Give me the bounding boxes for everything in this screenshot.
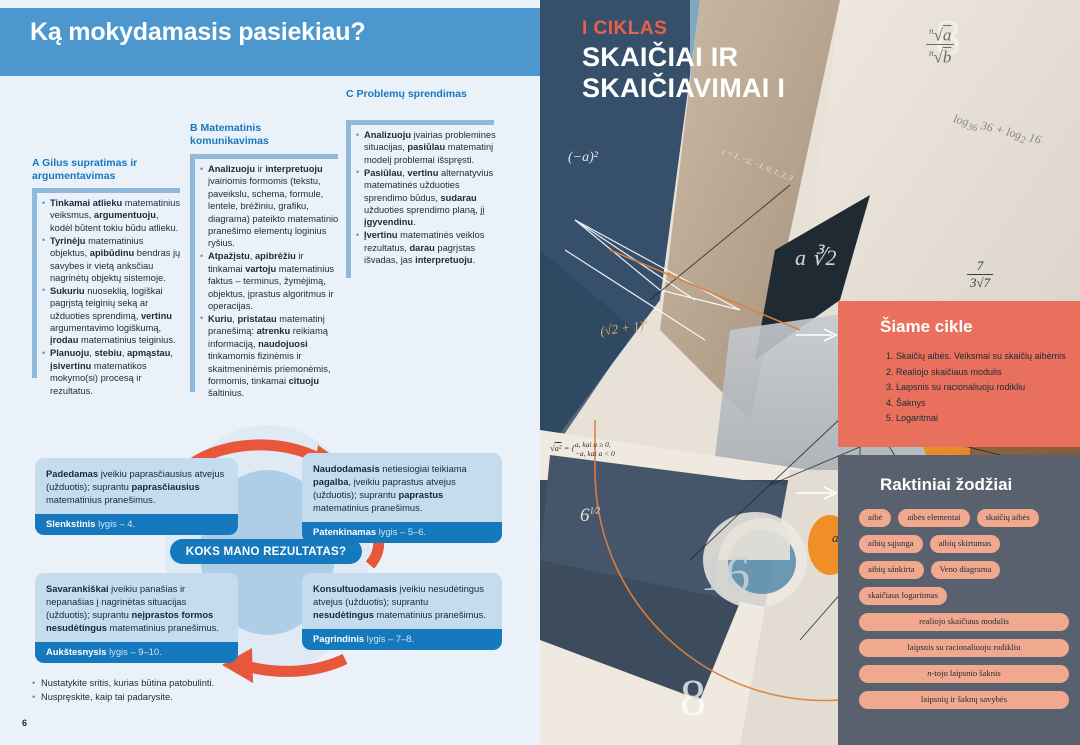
list-item: Analizuoju įvairias problemines situacij… [356, 129, 498, 166]
cycle-title-line2: SKAIČIAVIMAI I [582, 73, 785, 103]
level-rest: lygis – 4. [98, 518, 135, 529]
cycle-title-line1: SKAIČIAI IR [582, 42, 738, 72]
column-rule-c-left [346, 120, 351, 278]
column-list-c: Analizuoju įvairias problemines situacij… [356, 129, 498, 266]
column-body-c: Analizuoju įvairias problemines situacij… [356, 129, 498, 267]
list-item: Tinkamai atlieku matematinius veiksmus, … [42, 197, 182, 234]
level-rest: lygis – 7–8. [367, 633, 414, 644]
level-rest: lygis – 9–10. [109, 646, 162, 657]
level-card-aukstesnysis: Savarankiškai įveikiu panašias ir nepana… [35, 573, 238, 663]
bottom-notes: Nustatykite sritis, kurias būtina patobu… [32, 676, 332, 704]
list-item: Nuspręskite, kaip tai padarysite. [32, 690, 332, 704]
panel-keywords: Raktiniai žodžiai aibėaibės elementaiska… [838, 455, 1080, 745]
svg-text:8: 8 [935, 10, 961, 67]
level-rest: lygis – 5–6. [379, 526, 426, 537]
column-rule-b-top [190, 154, 338, 159]
cycle-title: SKAIČIAI IR SKAIČIAVIMAI I [582, 42, 785, 104]
keyword-pill[interactable]: laipsnių ir šaknų savybės [859, 691, 1069, 709]
level-card-pagrindinis: Konsultuodamasis įveikiu nesudėtingus at… [302, 573, 502, 650]
level-name: Patenkinamas [313, 526, 376, 537]
list-item: Logaritmai [896, 411, 1073, 427]
list-item: Įvertinu matematinės veiklos rezultatus,… [356, 229, 498, 266]
keyword-pill[interactable]: skaičiaus logaritmas [859, 587, 947, 605]
list-item: Skaičių aibės. Veiksmai su skaičių aibėm… [896, 349, 1073, 365]
right-page: 8 16 8 (−a)² z = 1, −2, −1, 0, 1, 2, 3 a… [540, 0, 1080, 745]
list-item: Analizuoju ir interpretuoju įvairiomis f… [200, 163, 340, 250]
list-item: Tyrinėju matematinius objektus, apibūdin… [42, 235, 182, 285]
level-card-text: Padedamas įveikiu paprasčiausius atvejus… [35, 458, 238, 514]
panel-keywords-title: Raktiniai žodžiai [880, 475, 1012, 495]
level-card-text: Naudodamasis netiesiogiai teikiama pagal… [302, 453, 502, 522]
svg-text:8: 8 [680, 670, 706, 727]
column-list-a: Tinkamai atlieku matematinius veiksmus, … [42, 197, 182, 397]
panel-this-cycle-title: Šiame cikle [880, 317, 973, 337]
column-body-b: Analizuoju ir interpretuoju įvairiomis f… [200, 163, 340, 400]
page-title: Ką mokydamasis pasiekiau? [30, 18, 365, 47]
arrow-right-icon-keywords [796, 486, 840, 500]
list-item: Kuriu, pristatau matematinį pranešimą: a… [200, 313, 340, 400]
level-name: Slenkstinis [46, 518, 96, 529]
assessment-cycle-diagram: Padedamas įveikiu paprasčiausius atvejus… [0, 415, 540, 695]
level-card-level: Pagrindinis lygis – 7–8. [302, 629, 502, 650]
level-card-text: Savarankiškai įveikiu panašias ir nepana… [35, 573, 238, 642]
level-card-level: Slenkstinis lygis – 4. [35, 514, 238, 535]
column-rule-a-left [32, 188, 37, 378]
left-page: Ką mokydamasis pasiekiau? A Gilus suprat… [0, 0, 540, 745]
column-heading-c: C Problemų sprendimas [346, 88, 496, 101]
list-item: Laipsnis su racionaliuoju rodikliu [896, 380, 1073, 396]
column-rule-a-top [32, 188, 180, 193]
arrow-right-icon-cycle [796, 328, 840, 342]
page-number: 6 [22, 718, 27, 728]
cycle-center-badge: KOKS MANO REZULTATAS? [170, 539, 362, 564]
keyword-pill[interactable]: aibių sąjunga [859, 535, 923, 553]
cycle-topic-list: Skaičių aibės. Veiksmai su skaičių aibėm… [883, 349, 1073, 427]
keyword-pill[interactable]: skaičių aibės [977, 509, 1039, 527]
cycle-kicker: I CIKLAS [582, 18, 667, 40]
keyword-pill[interactable]: aibių sánkirta [859, 561, 924, 579]
textbook-spread: Ką mokydamasis pasiekiau? A Gilus suprat… [0, 0, 1080, 745]
keyword-pill[interactable]: aibė [859, 509, 891, 527]
level-card-level: Aukštesnysis lygis – 9–10. [35, 642, 238, 663]
level-card-text: Konsultuodamasis įveikiu nesudėtingus at… [302, 573, 502, 629]
column-heading-a: A Gilus supratimas ir argumentavimas [32, 157, 182, 182]
keyword-pill[interactable]: Veno diagrama [931, 561, 1001, 579]
list-item: Realiojo skaičiaus modulis [896, 365, 1073, 381]
keyword-pill[interactable]: laipsnis su racionaliuoju rodikliu [859, 639, 1069, 657]
keyword-pill[interactable]: realiojo skaičiaus modulis [859, 613, 1069, 631]
panel-this-cycle: Šiame cikle Skaičių aibės. Veiksmai su s… [838, 301, 1080, 447]
column-list-b: Analizuoju ir interpretuoju įvairiomis f… [200, 163, 340, 400]
keyword-pill[interactable]: aibių skirtumas [930, 535, 1001, 553]
column-heading-b: B Matematinis komunikavimas [190, 122, 340, 147]
svg-text:16: 16 [700, 545, 750, 601]
level-card-patenkinamas: Naudodamasis netiesiogiai teikiama pagal… [302, 453, 502, 543]
level-card-slenkstinis: Padedamas įveikiu paprasčiausius atvejus… [35, 458, 238, 535]
list-item: Atpažįstu, apibrėžiu ir tinkamai vartoju… [200, 250, 340, 312]
list-item: Sukuriu nuoseklią, logiškai pagrįstą tei… [42, 285, 182, 347]
level-name: Aukštesnysis [46, 646, 106, 657]
list-item: Pasiūlau, vertinu alternatyvius matemati… [356, 167, 498, 229]
list-item: Nustatykite sritis, kurias būtina patobu… [32, 676, 332, 690]
keyword-pill-list: aibėaibės elementaiskaičių aibėsaibių są… [859, 509, 1069, 709]
list-item: Šaknys [896, 396, 1073, 412]
column-rule-b-left [190, 154, 195, 392]
column-body-a: Tinkamai atlieku matematinius veiksmus, … [42, 197, 182, 398]
list-item: Planuoju, stebiu, apmąstau, įsivertinu m… [42, 347, 182, 397]
level-name: Pagrindinis [313, 633, 364, 644]
column-rule-c-top [346, 120, 494, 125]
keyword-pill[interactable]: aibės elementai [898, 509, 969, 527]
keyword-pill[interactable]: n-tojo laipsnio šaknis [859, 665, 1069, 683]
